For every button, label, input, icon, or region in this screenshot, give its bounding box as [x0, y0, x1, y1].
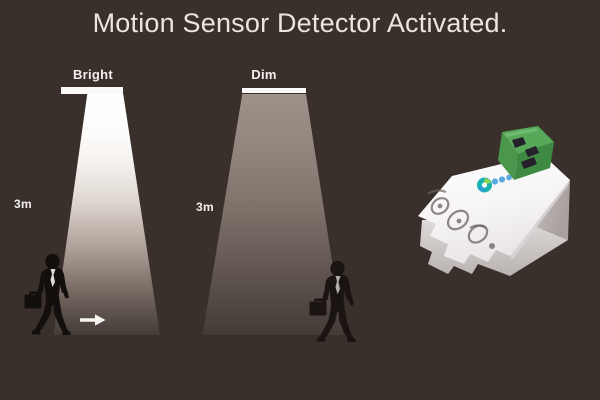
motion-sensor-device: [392, 124, 588, 296]
fixture-label-bright: Bright: [43, 67, 143, 82]
page-title: Motion Sensor Detector Activated.: [0, 8, 600, 39]
walking-person-bright: [22, 253, 80, 335]
light-fixture-bar-bright: [61, 87, 123, 94]
walking-person-dim: [307, 260, 365, 342]
panel-dim: Dim: [190, 60, 380, 350]
fixture-label-dim: Dim: [214, 67, 314, 82]
motion-direction-arrow-icon: [80, 313, 106, 327]
light-fixture-bar-dim: [242, 88, 306, 93]
scene-canvas: Motion Sensor Detector Activated. Bright: [0, 0, 600, 400]
distance-label-bright: 3m: [14, 197, 32, 211]
distance-label-dim: 3m: [196, 200, 214, 214]
